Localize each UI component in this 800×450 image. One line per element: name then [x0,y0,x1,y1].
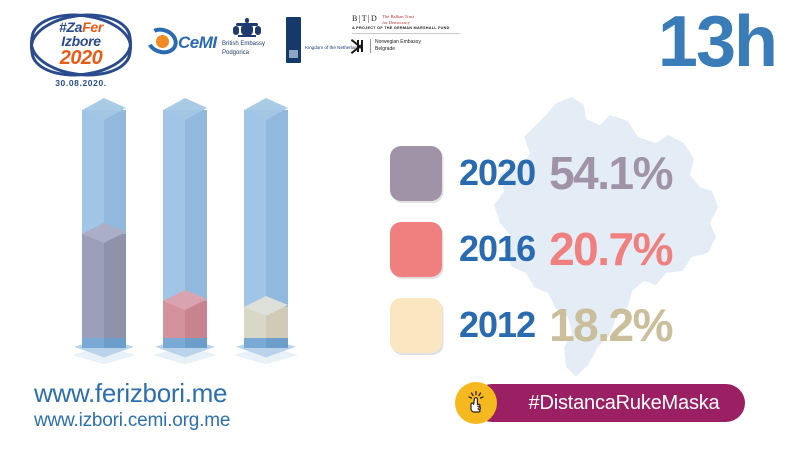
chart-bar-2012 [244,112,310,352]
divider [352,33,460,34]
turnout-bar-chart [82,112,314,352]
netherlands-bar-icon [286,17,301,63]
british-embassy-logo: British Embassy Podgorica [222,18,282,64]
logo-line3-year: 2020 [28,49,134,68]
balkan-trust-and-norway-logos: B|T|D The Balkan Trust for Democracy A P… [352,14,470,66]
btd-title-line1: The Balkan Trust [382,14,414,19]
cemi-eye-icon [146,28,178,54]
chart-bar-2016 [163,112,229,352]
infographic-canvas: #ZaFer Izbore 2020 30.08.2020. CeMI [0,0,800,450]
legend-panel: 2020 54.1% 2016 20.7% 2012 18.2% [390,95,790,385]
hashtag-banner: #DistancaRukeMaska [455,384,745,422]
norwegian-embassy-line2: Belgrade [375,46,421,53]
legend-percent-2016: 20.7% [549,222,672,276]
legend-swatch-2020 [390,146,442,201]
norway-mark-icon [352,38,366,54]
btd-title-line2: for Democracy [382,20,410,25]
hashtag-pill[interactable]: #DistancaRukeMaska [473,384,745,422]
pointing-hand-icon [463,390,489,416]
zafer-izbore-2020-logo: #ZaFer Izbore 2020 30.08.2020. [28,14,134,92]
legend-swatch-2016 [390,222,442,277]
bar-fill-2020 [82,223,126,338]
hashtag-label: #DistancaRukeMaska [499,392,720,415]
chart-bar-2020 [82,112,148,352]
bar-container [163,98,221,338]
legend-list: 2020 54.1% 2016 20.7% 2012 18.2% [390,135,790,363]
hours-badge: 13h [658,6,776,78]
royal-crest-icon [232,18,262,38]
partner-logo-row: #ZaFer Izbore 2020 30.08.2020. CeMI [0,0,470,100]
btd-monogram: B|T|D [352,14,378,23]
url-primary[interactable]: www.ferizbori.me [34,378,230,409]
btd-subtitle: A PROJECT OF THE GERMAN MARSHALL FUND [352,26,450,30]
legend-year-2016: 2016 [459,228,535,270]
bar-container [244,98,302,338]
bar-container [82,98,140,338]
legend-percent-2012: 18.2% [549,298,672,352]
website-urls: www.ferizbori.me www.izbori.cemi.org.me [34,378,230,432]
legend-year-2020: 2020 [459,152,535,194]
bar-fill-2012 [244,296,288,338]
norwegian-embassy-line1: Norwegian Embassy [375,39,421,46]
norwegian-embassy-logo: Norwegian Embassy Belgrade [352,38,421,54]
legend-year-2012: 2012 [459,304,535,346]
legend-swatch-2012 [390,298,442,353]
logo-date: 30.08.2020. [28,78,134,88]
legend-row-2016: 2016 20.7% [390,211,790,287]
legend-row-2020: 2020 54.1% [390,135,790,211]
bar-fill-2016 [163,290,207,338]
url-secondary[interactable]: www.izbori.cemi.org.me [34,410,230,432]
cemi-logo: CeMI [146,26,212,60]
british-embassy-line2: Podgorica [222,49,282,58]
cemi-wordmark: CeMI [178,33,217,53]
legend-percent-2020: 54.1% [549,146,672,200]
legend-row-2012: 2012 18.2% [390,287,790,363]
pointing-hand-badge [455,382,497,424]
british-embassy-line1: British Embassy [222,40,282,49]
